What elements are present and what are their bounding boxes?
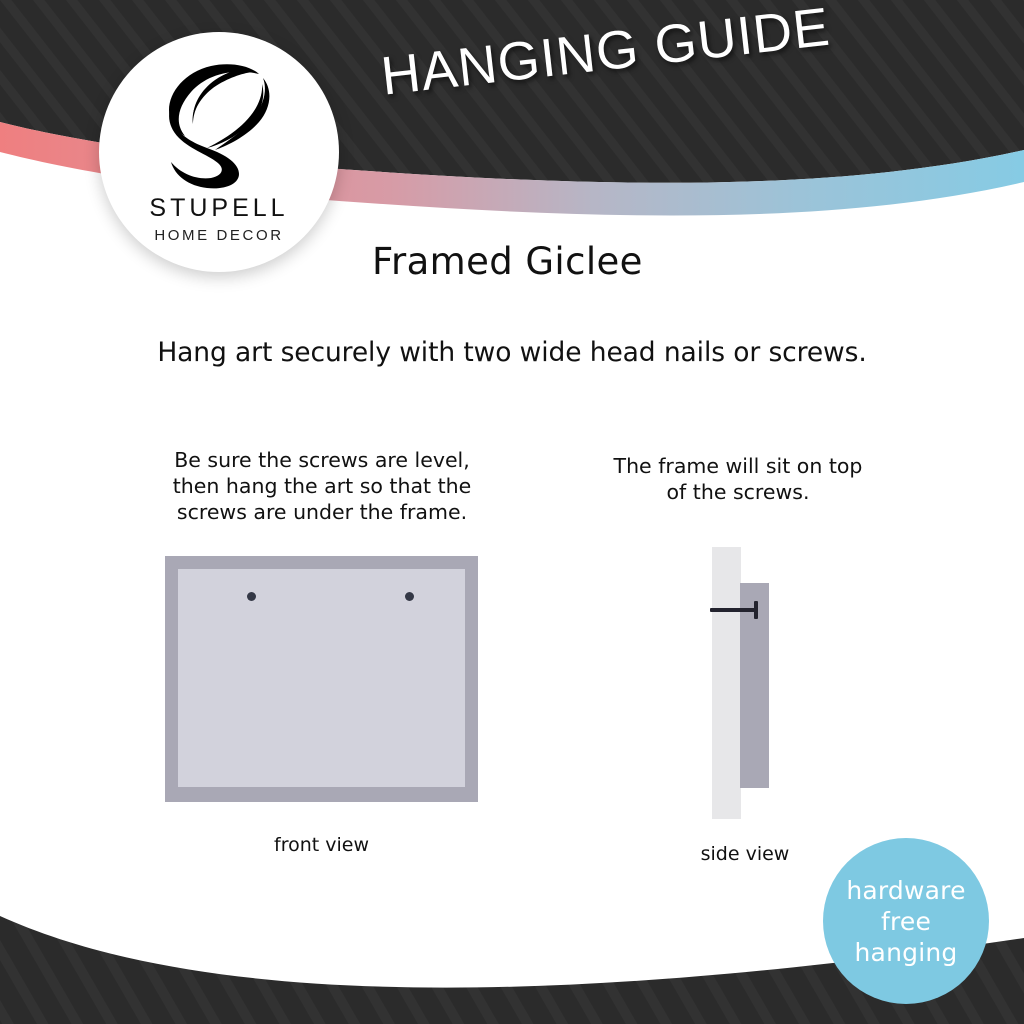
caption-line: screws are under the frame.	[152, 499, 492, 525]
stupell-s-swirl-icon	[163, 62, 275, 190]
nail-icon	[710, 608, 757, 612]
badge-line: hanging	[855, 937, 958, 968]
product-title: Framed Giclee	[372, 240, 643, 283]
lede-instruction: Hang art securely with two wide head nai…	[0, 337, 1024, 368]
front-view-label: front view	[165, 834, 478, 856]
frame-mat	[178, 569, 465, 787]
badge-line: free	[881, 906, 931, 937]
screw-dot-left-icon	[247, 592, 256, 601]
hardware-free-hanging-badge: hardware free hanging	[823, 838, 989, 1004]
caption-line: of the screws.	[592, 479, 884, 505]
logo-sub-wordmark: HOME DECOR	[154, 228, 283, 243]
side-view-label: side view	[660, 843, 830, 865]
side-view-diagram	[700, 540, 790, 820]
caption-line: The frame will sit on top	[592, 453, 884, 479]
front-view-frame-diagram	[165, 556, 478, 802]
screw-dot-right-icon	[405, 592, 414, 601]
nail-head-icon	[754, 601, 758, 619]
wall-strip	[712, 547, 741, 819]
front-view-caption: Be sure the screws are level, then hang …	[152, 447, 492, 525]
side-view-caption: The frame will sit on top of the screws.	[592, 453, 884, 505]
hanging-guide-infographic: STUPELL HOME DECOR HANGING GUIDE Framed …	[0, 0, 1024, 1024]
caption-line: then hang the art so that the	[152, 473, 492, 499]
caption-line: Be sure the screws are level,	[152, 447, 492, 473]
badge-line: hardware	[846, 875, 965, 906]
brand-logo-badge: STUPELL HOME DECOR	[99, 32, 339, 272]
logo-wordmark: STUPELL	[149, 196, 288, 221]
